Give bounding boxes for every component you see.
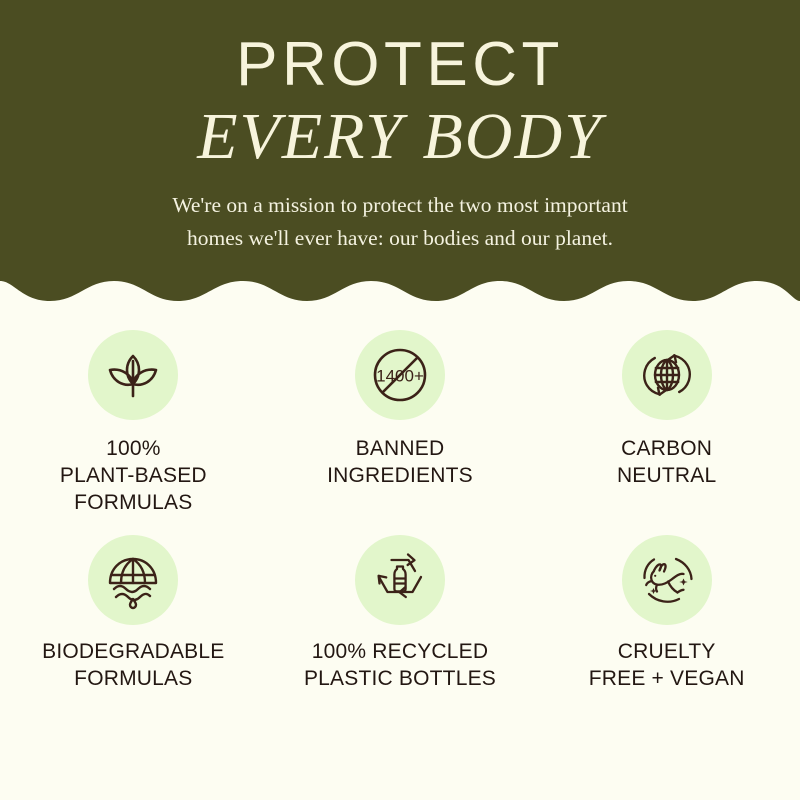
feature-badge-grid: 100% PLANT-BASED FORMULAS 1400+ BANNED I…	[0, 330, 800, 692]
badge-banned-ingredients: 1400+ BANNED INGREDIENTS	[267, 330, 534, 517]
badge-icon-wrap	[622, 330, 712, 420]
badge-carbon-neutral: CARBON NEUTRAL	[533, 330, 800, 517]
badge-plant-based: 100% PLANT-BASED FORMULAS	[0, 330, 267, 517]
promo-page: PROTECT EVERY BODY We're on a mission to…	[0, 0, 800, 800]
badge-label: 100% PLANT-BASED FORMULAS	[60, 436, 207, 517]
hero-subheading-line2: homes we'll ever have: our bodies and ou…	[172, 222, 627, 254]
hero-banner: PROTECT EVERY BODY We're on a mission to…	[0, 0, 800, 312]
page-title-line1: PROTECT	[236, 34, 564, 96]
badge-icon-wrap	[88, 330, 178, 420]
banned-ingredients-icon: 1400+	[370, 345, 430, 405]
plant-leaves-icon	[102, 344, 164, 406]
page-title-line2: EVERY BODY	[197, 102, 603, 171]
badge-icon-wrap: 1400+	[355, 330, 445, 420]
banned-count-text: 1400+	[376, 367, 424, 386]
biodegradable-globe-water-icon	[102, 549, 164, 611]
recycled-bottle-icon	[369, 549, 431, 611]
badge-icon-wrap	[88, 535, 178, 625]
leaping-bunny-icon	[635, 548, 699, 612]
carbon-neutral-globe-icon	[636, 344, 698, 406]
badge-recycled-bottles: 100% RECYCLED PLASTIC BOTTLES	[267, 535, 534, 693]
badge-label: 100% RECYCLED PLASTIC BOTTLES	[304, 639, 496, 693]
hero-content: PROTECT EVERY BODY We're on a mission to…	[0, 0, 800, 285]
badge-label: BANNED INGREDIENTS	[327, 436, 473, 490]
badge-icon-wrap	[355, 535, 445, 625]
badge-icon-wrap	[622, 535, 712, 625]
badge-label: CARBON NEUTRAL	[617, 436, 716, 490]
badge-label: BIODEGRADABLE FORMULAS	[42, 639, 224, 693]
badge-cruelty-free: CRUELTY FREE + VEGAN	[533, 535, 800, 693]
wave-divider	[0, 267, 800, 312]
hero-subheading-line1: We're on a mission to protect the two mo…	[172, 189, 627, 221]
badge-biodegradable: BIODEGRADABLE FORMULAS	[0, 535, 267, 693]
hero-subheading: We're on a mission to protect the two mo…	[172, 189, 627, 254]
badge-label: CRUELTY FREE + VEGAN	[589, 639, 745, 693]
